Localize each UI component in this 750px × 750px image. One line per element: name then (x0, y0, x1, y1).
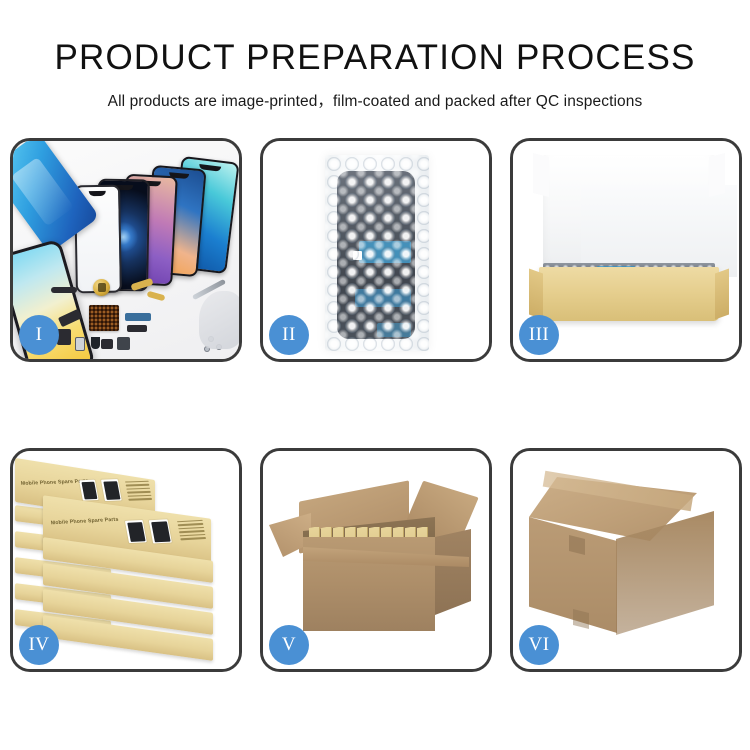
step-panel-3: III (510, 138, 742, 362)
box-spec-list (125, 481, 153, 503)
box-window-image (101, 479, 122, 501)
box-brand-text: Mobile Phone Spare Parts (50, 517, 119, 527)
page-subtitle: All products are image-printed，film-coat… (0, 75, 750, 111)
process-steps-grid: I II (10, 138, 742, 674)
mailer-box-base (539, 267, 719, 321)
step-badge-5: V (269, 625, 309, 665)
box-window-image (79, 480, 99, 501)
product-preparation-page: PRODUCT PREPARATION PROCESS All products… (0, 0, 750, 750)
phone-thumbnail (127, 522, 145, 542)
step-badge-2: II (269, 315, 309, 355)
earpiece-part (51, 287, 77, 293)
carton-corner-tab (573, 609, 589, 629)
bubble-texture-offset (325, 155, 429, 351)
box-window-image (125, 520, 147, 543)
step-panel-2: II (260, 138, 492, 362)
step-panel-1: I (10, 138, 242, 362)
vibration-motor-part (93, 279, 110, 296)
step-panel-5: V (260, 448, 492, 672)
step-badge-1: I (19, 315, 59, 355)
page-header: PRODUCT PREPARATION PROCESS All products… (0, 0, 750, 111)
phone-thumbnail (103, 481, 120, 500)
step-panel-4: Mobile Phone Spare Parts Mobile Phone Sp… (10, 448, 242, 672)
step-panel-6: VI (510, 448, 742, 672)
speaker-box-part (91, 337, 100, 349)
flex-cable-part (127, 325, 147, 332)
bubble-wrap-bag (325, 155, 429, 351)
camera-part (117, 337, 130, 350)
step-badge-4: IV (19, 625, 59, 665)
notch-icon (89, 191, 106, 196)
box-spec-list (177, 520, 207, 542)
phone-thumbnail (151, 521, 171, 542)
flex-cable-part (57, 329, 71, 345)
sim-tray-part (75, 337, 85, 351)
chip-part (101, 339, 113, 349)
phone-thumbnail (81, 481, 97, 499)
blue-flex-cable-part (125, 313, 151, 321)
mailer-box-lid (543, 155, 715, 273)
box-window-image (149, 519, 172, 543)
step-badge-3: III (519, 315, 559, 355)
carton-side-panel (435, 529, 471, 615)
page-title: PRODUCT PREPARATION PROCESS (0, 0, 750, 75)
hand-holding-tool (199, 291, 239, 349)
mesh-grille-part (89, 305, 119, 331)
gold-connector-part (147, 291, 166, 302)
step-badge-6: VI (519, 625, 559, 665)
